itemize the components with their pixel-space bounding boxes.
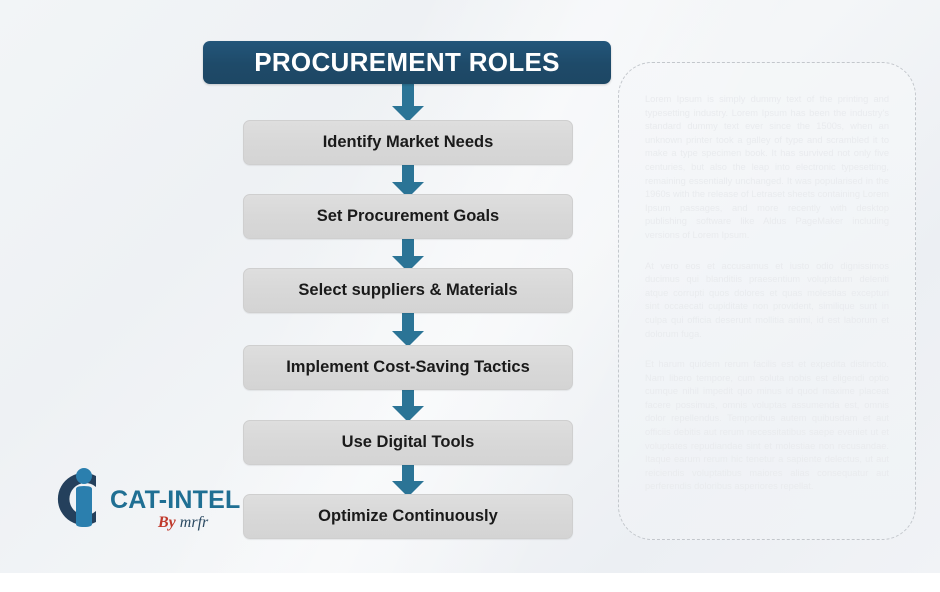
flow-step-label: Identify Market Needs <box>323 133 494 152</box>
flow-step-label: Implement Cost-Saving Tactics <box>286 358 530 377</box>
page-title: PROCUREMENT ROLES <box>203 41 611 84</box>
notes-panel: Lorem Ipsum is simply dummy text of the … <box>618 62 916 540</box>
logo-by-text: By <box>158 514 176 531</box>
logo-wordmark: CAT-INTEL <box>110 486 241 515</box>
flow-step-4[interactable]: Implement Cost-Saving Tactics <box>243 345 573 390</box>
notes-paragraph: At vero eos et accusamus et iusto odio d… <box>645 260 889 342</box>
bottom-white-strip <box>0 573 940 592</box>
flow-step-3[interactable]: Select suppliers & Materials <box>243 268 573 313</box>
down-arrow-icon <box>391 84 425 122</box>
flow-step-label: Use Digital Tools <box>342 433 475 452</box>
down-arrow-icon <box>391 160 425 198</box>
down-arrow-icon <box>391 309 425 347</box>
flow-step-1[interactable]: Identify Market Needs <box>243 120 573 165</box>
flow-step-6[interactable]: Optimize Continuously <box>243 494 573 539</box>
logo-brand-text: mrfr <box>180 514 208 531</box>
flow-step-label: Select suppliers & Materials <box>298 281 517 300</box>
down-arrow-icon <box>391 234 425 272</box>
flow-step-label: Optimize Continuously <box>318 507 498 526</box>
cat-intel-logo-icon <box>52 464 114 534</box>
flow-step-label: Set Procurement Goals <box>317 207 499 226</box>
logo-byline: By mrfr <box>158 514 208 532</box>
slide-canvas: PROCUREMENT ROLES Identify Market Needs … <box>0 0 940 573</box>
flow-step-2[interactable]: Set Procurement Goals <box>243 194 573 239</box>
logo: CAT-INTEL By mrfr <box>52 462 227 554</box>
notes-paragraph: Lorem Ipsum is simply dummy text of the … <box>645 93 889 243</box>
notes-paragraph: Et harum quidem rerum facilis est et exp… <box>645 358 889 494</box>
flow-step-5[interactable]: Use Digital Tools <box>243 420 573 465</box>
page-title-text: PROCUREMENT ROLES <box>254 47 560 78</box>
